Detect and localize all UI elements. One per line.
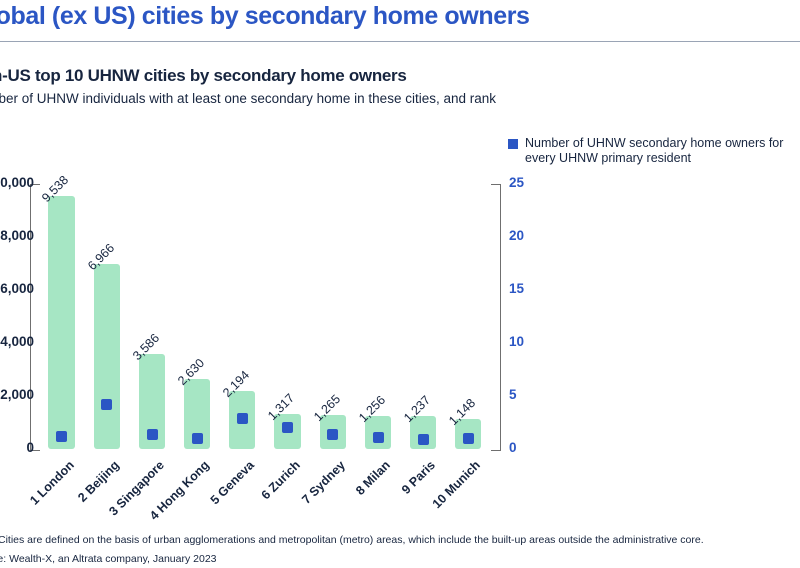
bar [94,264,120,449]
left-axis-tick: 4,000 [0,334,34,349]
right-axis-tick: 20 [509,228,524,243]
legend-swatch-icon [508,139,518,149]
left-axis-tick: 0 [0,440,34,455]
x-axis-label: 7 Sydney [264,458,348,542]
right-axis-tick: 25 [509,175,524,190]
x-axis-label: 9 Paris [354,458,438,542]
scatter-marker [147,429,158,440]
plot-area: 9,5386,9663,5862,6302,1941,3171,2651,256… [39,184,491,449]
page-title: Global (ex US) cities by secondary home … [0,2,800,31]
right-axis-tick: 15 [509,281,524,296]
x-axis-label: 10 Munich [399,458,483,542]
x-axis-label: 5 Geneva [173,458,257,542]
scatter-marker [56,431,67,442]
chart-title: Non-US top 10 UHNW cities by secondary h… [0,66,670,86]
right-axis-tick: 10 [509,334,524,349]
left-axis-tick: 2,000 [0,387,34,402]
scatter-marker [237,413,248,424]
chart-page: Global (ex US) cities by secondary home … [0,0,800,568]
left-axis-tick: 8,000 [0,228,34,243]
x-axis-label: 4 Hong Kong [128,458,212,542]
bar [48,196,74,449]
scatter-marker [192,433,203,444]
left-axis-tick: 10,000 [0,175,34,190]
scatter-marker [282,422,293,433]
scatter-marker [373,432,384,443]
left-axis-tick: 6,000 [0,281,34,296]
x-axis-label: 8 Milan [309,458,393,542]
x-axis-label: 3 Singapore [83,458,167,542]
footnote-note: Note: Cities are defined on the basis of… [0,534,800,546]
x-axis-label: 1 London [0,458,77,542]
legend: Number of UHNW secondary home owners for… [508,136,800,166]
scatter-marker [101,399,112,410]
scatter-marker [327,429,338,440]
chart-subtitle: Number of UHNW individuals with at least… [0,90,530,107]
scatter-marker [463,433,474,444]
x-axis-label: 2 Beijing [38,458,122,542]
legend-label: Number of UHNW secondary home owners for… [525,136,797,166]
right-axis-tick: 0 [509,440,517,455]
title-divider [0,41,800,42]
right-axis-bracket [491,184,501,451]
x-axis-label: 6 Zurich [218,458,302,542]
scatter-marker [418,434,429,445]
footnote-source: Source: Wealth-X, an Altrata company, Ja… [0,553,800,565]
right-axis-tick: 5 [509,387,517,402]
